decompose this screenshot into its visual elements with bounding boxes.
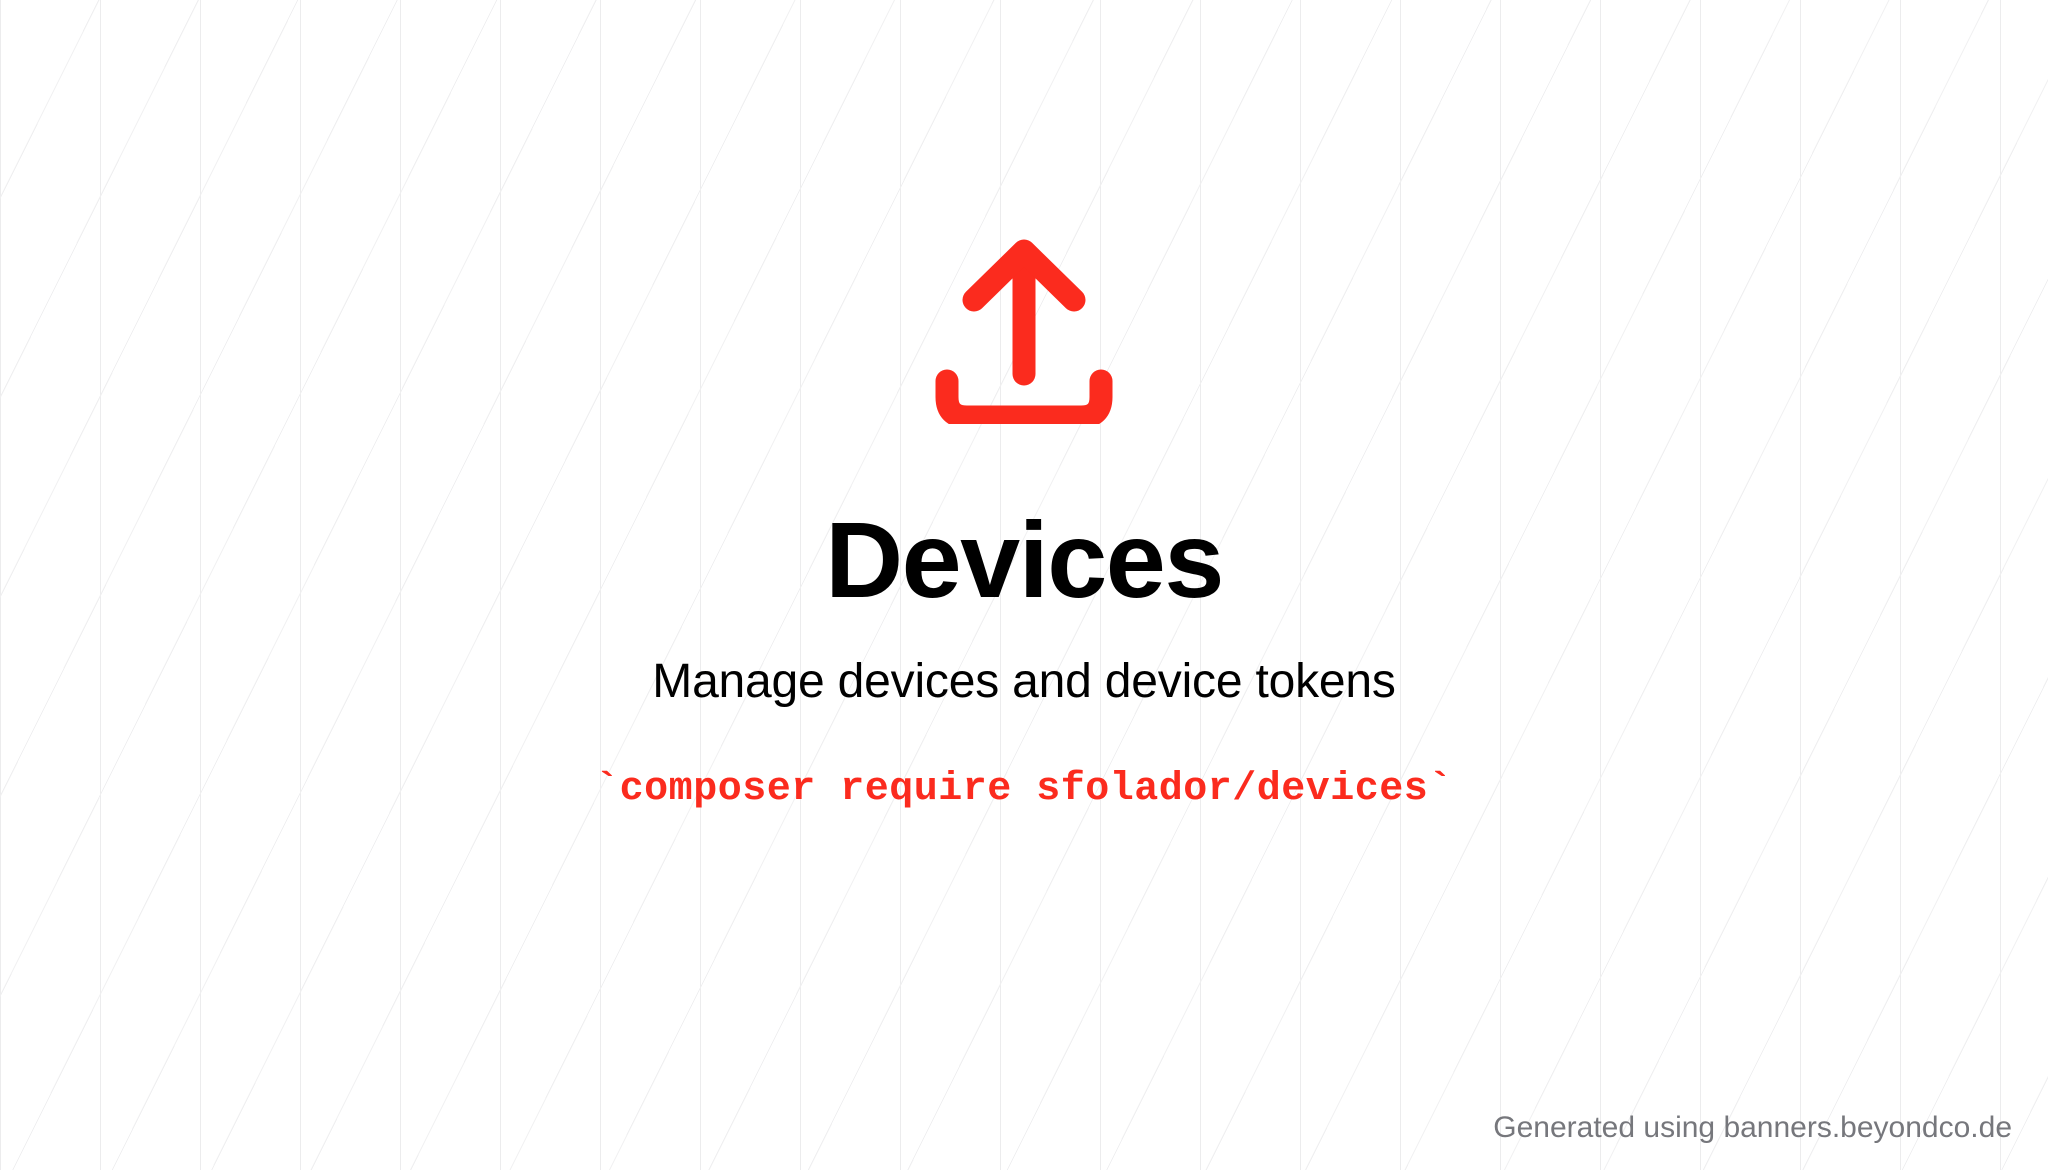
banner-canvas: Devices Manage devices and device tokens… xyxy=(0,0,2048,1170)
footer-attribution: Generated using banners.beyondco.de xyxy=(1493,1110,2012,1146)
install-command: `composer require sfolador/devices` xyxy=(595,770,1453,810)
page-title: Devices xyxy=(825,506,1223,614)
page-subtitle: Manage devices and device tokens xyxy=(652,658,1395,706)
banner-content: Devices Manage devices and device tokens… xyxy=(0,0,2048,1170)
upload-icon xyxy=(934,238,1114,424)
